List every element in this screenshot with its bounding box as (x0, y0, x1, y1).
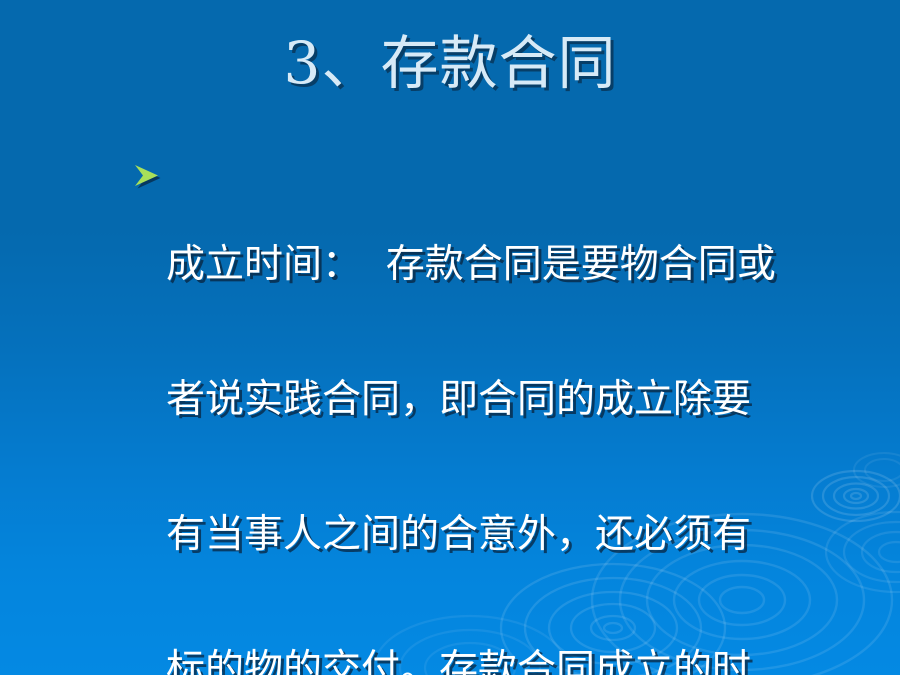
presentation-slide: 3、存款合同 成立时间： 存款合同是要物合同或 者说实践合同，即合同的成立除要 … (0, 0, 900, 675)
bullet-line: 者说实践合同，即合同的成立除要 (166, 377, 892, 422)
green-arrow-bullet-icon (132, 162, 162, 190)
bullet-line: 成立时间： 存款合同是要物合同或 (166, 242, 892, 287)
bullet-line: 有当事人之间的合意外，还必须有 (166, 512, 892, 557)
bullet-item-1-text: 成立时间： 存款合同是要物合同或 者说实践合同，即合同的成立除要 有当事人之间的… (166, 152, 892, 675)
bullet-line: 标的物的交付。存款合同成立的时 (166, 647, 892, 675)
slide-title: 3、存款合同 (0, 32, 900, 95)
slide-body: 成立时间： 存款合同是要物合同或 者说实践合同，即合同的成立除要 有当事人之间的… (132, 152, 892, 675)
bullet-item-1[interactable]: 成立时间： 存款合同是要物合同或 者说实践合同，即合同的成立除要 有当事人之间的… (132, 152, 892, 675)
